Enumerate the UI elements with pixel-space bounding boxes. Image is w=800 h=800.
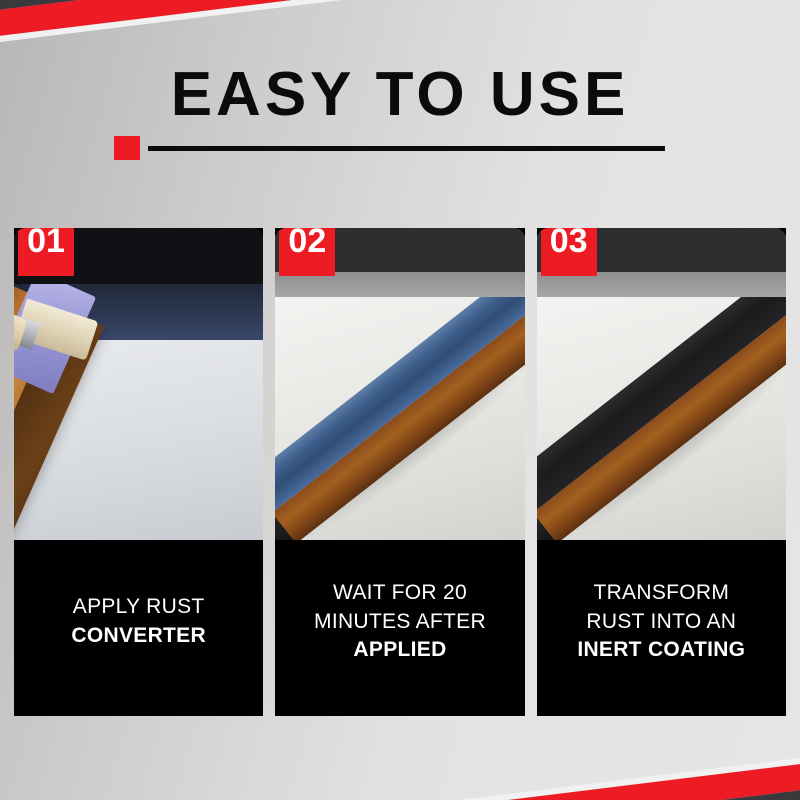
infographic-canvas: EASY TO USE 01 [0,0,800,800]
caption-line-emphasis: APPLIED [353,636,446,665]
page-title-wrap: EASY TO USE [0,64,800,126]
step-badge-1: 01 [18,228,74,276]
caption-line: MINUTES AFTER [314,608,486,637]
page-title: EASY TO USE [0,64,800,126]
corner-decoration-bottom-right [87,710,800,800]
title-rule-line [148,146,665,151]
deco-band-red [0,0,710,68]
deco-band-line [89,726,800,800]
step-photo-2: 02 [275,228,524,540]
step-badge-2: 02 [279,228,335,276]
caption-line-emphasis: INERT COATING [577,636,745,665]
deco-band-dark [0,0,707,42]
caption-line: WAIT FOR 20 [333,579,467,608]
step-photo-1: 01 [14,228,263,540]
step-photo-3: 03 [537,228,786,540]
step-caption-2: WAIT FOR 20 MINUTES AFTER APPLIED [275,540,524,716]
caption-line-emphasis: CONVERTER [71,622,206,651]
step-badge-3: 03 [541,228,597,276]
step-caption-1: APPLY RUST CONVERTER [14,540,263,716]
caption-line: RUST INTO AN [586,608,736,637]
deco-band-red [90,732,800,800]
step-card-2: 02 WAIT FOR 20 MINUTES AFTER APPLIED [275,228,524,716]
caption-line: TRANSFORM [593,579,729,608]
step-caption-3: TRANSFORM RUST INTO AN INERT COATING [537,540,786,716]
caption-line: APPLY RUST [73,593,205,622]
step-card-3: 03 TRANSFORM RUST INTO AN INERT COATING [537,228,786,716]
steps-row: 01 APPLY RUST CONVERTER [14,228,786,716]
title-rule [114,136,674,160]
deco-band-dark [93,758,800,800]
title-rule-square [114,136,140,160]
step-card-1: 01 APPLY RUST CONVERTER [14,228,263,716]
